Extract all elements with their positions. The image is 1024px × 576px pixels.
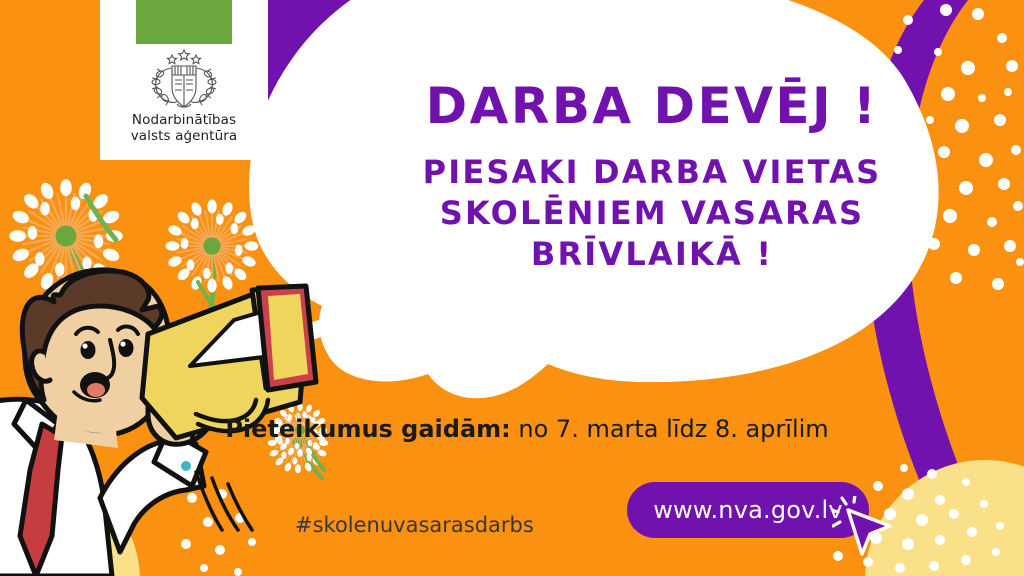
logo-text-line1: Nodarbinātības bbox=[100, 112, 268, 128]
logo-text-line2: valsts aģentūra bbox=[100, 128, 268, 144]
headline-block: DARBA DEVĒJ ! PIESAKI DARBA VIETAS SKOLĒ… bbox=[392, 78, 912, 275]
mouse-cursor-click-icon bbox=[832, 496, 898, 566]
hashtag-text: #skolenuvasarasdarbs bbox=[295, 513, 534, 537]
cursor-arrow bbox=[848, 510, 890, 554]
deadline-line: Pieteikumus gaidām: no 7. marta līdz 8. … bbox=[0, 414, 1024, 444]
headline-sub-line-3: BRĪVLAIKĀ ! bbox=[392, 234, 912, 275]
deadline-value: no 7. marta līdz 8. aprīlim bbox=[511, 415, 829, 443]
website-url-label: www.nva.gov.lv bbox=[653, 496, 843, 524]
headline-sub-line-2: SKOLĒNIEM VASARAS bbox=[392, 193, 912, 234]
green-flag-block bbox=[136, 0, 232, 44]
character-eye-left bbox=[81, 341, 96, 359]
nva-logo-card: Nodarbinātības valsts aģentūra bbox=[100, 0, 268, 160]
logo-text: Nodarbinātības valsts aģentūra bbox=[100, 112, 268, 144]
headline-sub: PIESAKI DARBA VIETAS SKOLĒNIEM VASARAS B… bbox=[392, 152, 912, 275]
headline-main: DARBA DEVĒJ ! bbox=[392, 78, 912, 134]
poster-canvas: Nodarbinātības valsts aģentūra DARBA DEV… bbox=[0, 0, 1024, 576]
cuff-button bbox=[181, 461, 191, 471]
headline-sub-line-1: PIESAKI DARBA VIETAS bbox=[392, 152, 912, 193]
character-eye-right bbox=[119, 339, 134, 357]
latvia-coat-of-arms-icon bbox=[144, 46, 224, 112]
deadline-label: Pieteikumus gaidām: bbox=[225, 415, 510, 443]
